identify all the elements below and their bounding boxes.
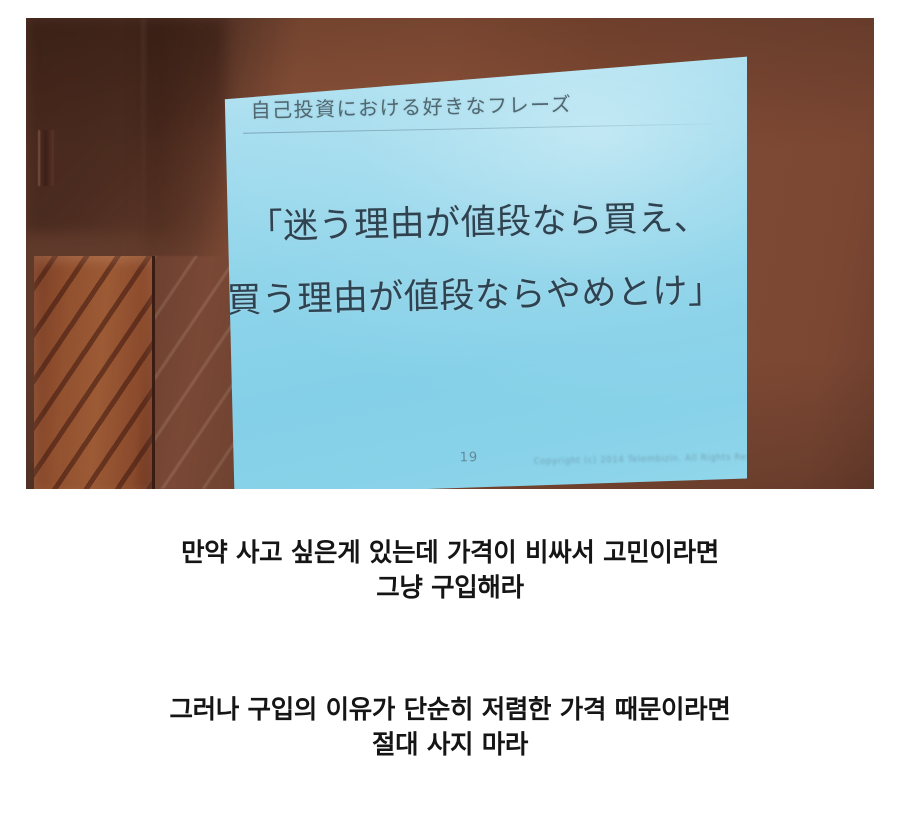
slide-title: 自己投資における好きなフレーズ	[250, 88, 572, 123]
slide-title-divider	[243, 123, 711, 133]
caption-2-line-1: 그러나 구입의 이유가 단순히 저렴한 가격 때문이라면	[0, 693, 900, 728]
caption-block-2: 그러나 구입의 이유가 단순히 저렴한 가격 때문이라면 절대 사지 마라	[0, 693, 900, 763]
caption-1-line-1: 만약 사고 싶은게 있는데 가격이 비싸서 고민이라면	[0, 536, 900, 571]
projection-screen: 自己投資における好きなフレーズ 「迷う理由が値段なら買え、 買う理由が値段ならや…	[212, 54, 747, 489]
caption-block-1: 만약 사고 싶은게 있는데 가격이 비싸서 고민이라면 그냥 구입해라	[0, 536, 900, 606]
wooden-slat-panel	[34, 256, 155, 489]
slide-body-line-2: 買う理由が値段ならやめとけ」	[202, 274, 748, 320]
slide-body-line-1: 「迷う理由が値段なら買え、	[211, 201, 747, 247]
slide-page-number: 19	[459, 450, 478, 465]
caption-2-line-2: 절대 사지 마라	[0, 728, 900, 763]
caption-section: 만약 사고 싶은게 있는데 가격이 비싸서 고민이라면 그냥 구입해라 그러나 …	[0, 500, 900, 819]
caption-1-line-2: 그냥 구입해라	[0, 571, 900, 606]
wall-corner-seam	[142, 18, 145, 268]
room-photo: 自己投資における好きなフレーズ 「迷う理由が値段なら買え、 買う理由が値段ならや…	[26, 18, 874, 489]
slide-body: 「迷う理由が値段なら買え、 買う理由が値段ならやめとけ」	[211, 201, 749, 358]
photo-section: 自己投資における好きなフレーズ 「迷う理由が値段なら買え、 買う理由が値段ならや…	[0, 0, 900, 500]
screen-surface: 自己投資における好きなフレーズ 「迷う理由が値段なら買え、 買う理由が値段ならや…	[212, 54, 747, 489]
slide-copyright-notice: Copyright (c) 2014 Telembizin. All Right…	[534, 452, 783, 467]
wall-fixture	[38, 130, 54, 186]
slide-content: 自己投資における好きなフレーズ 「迷う理由が値段なら買え、 買う理由が値段ならや…	[208, 49, 752, 489]
